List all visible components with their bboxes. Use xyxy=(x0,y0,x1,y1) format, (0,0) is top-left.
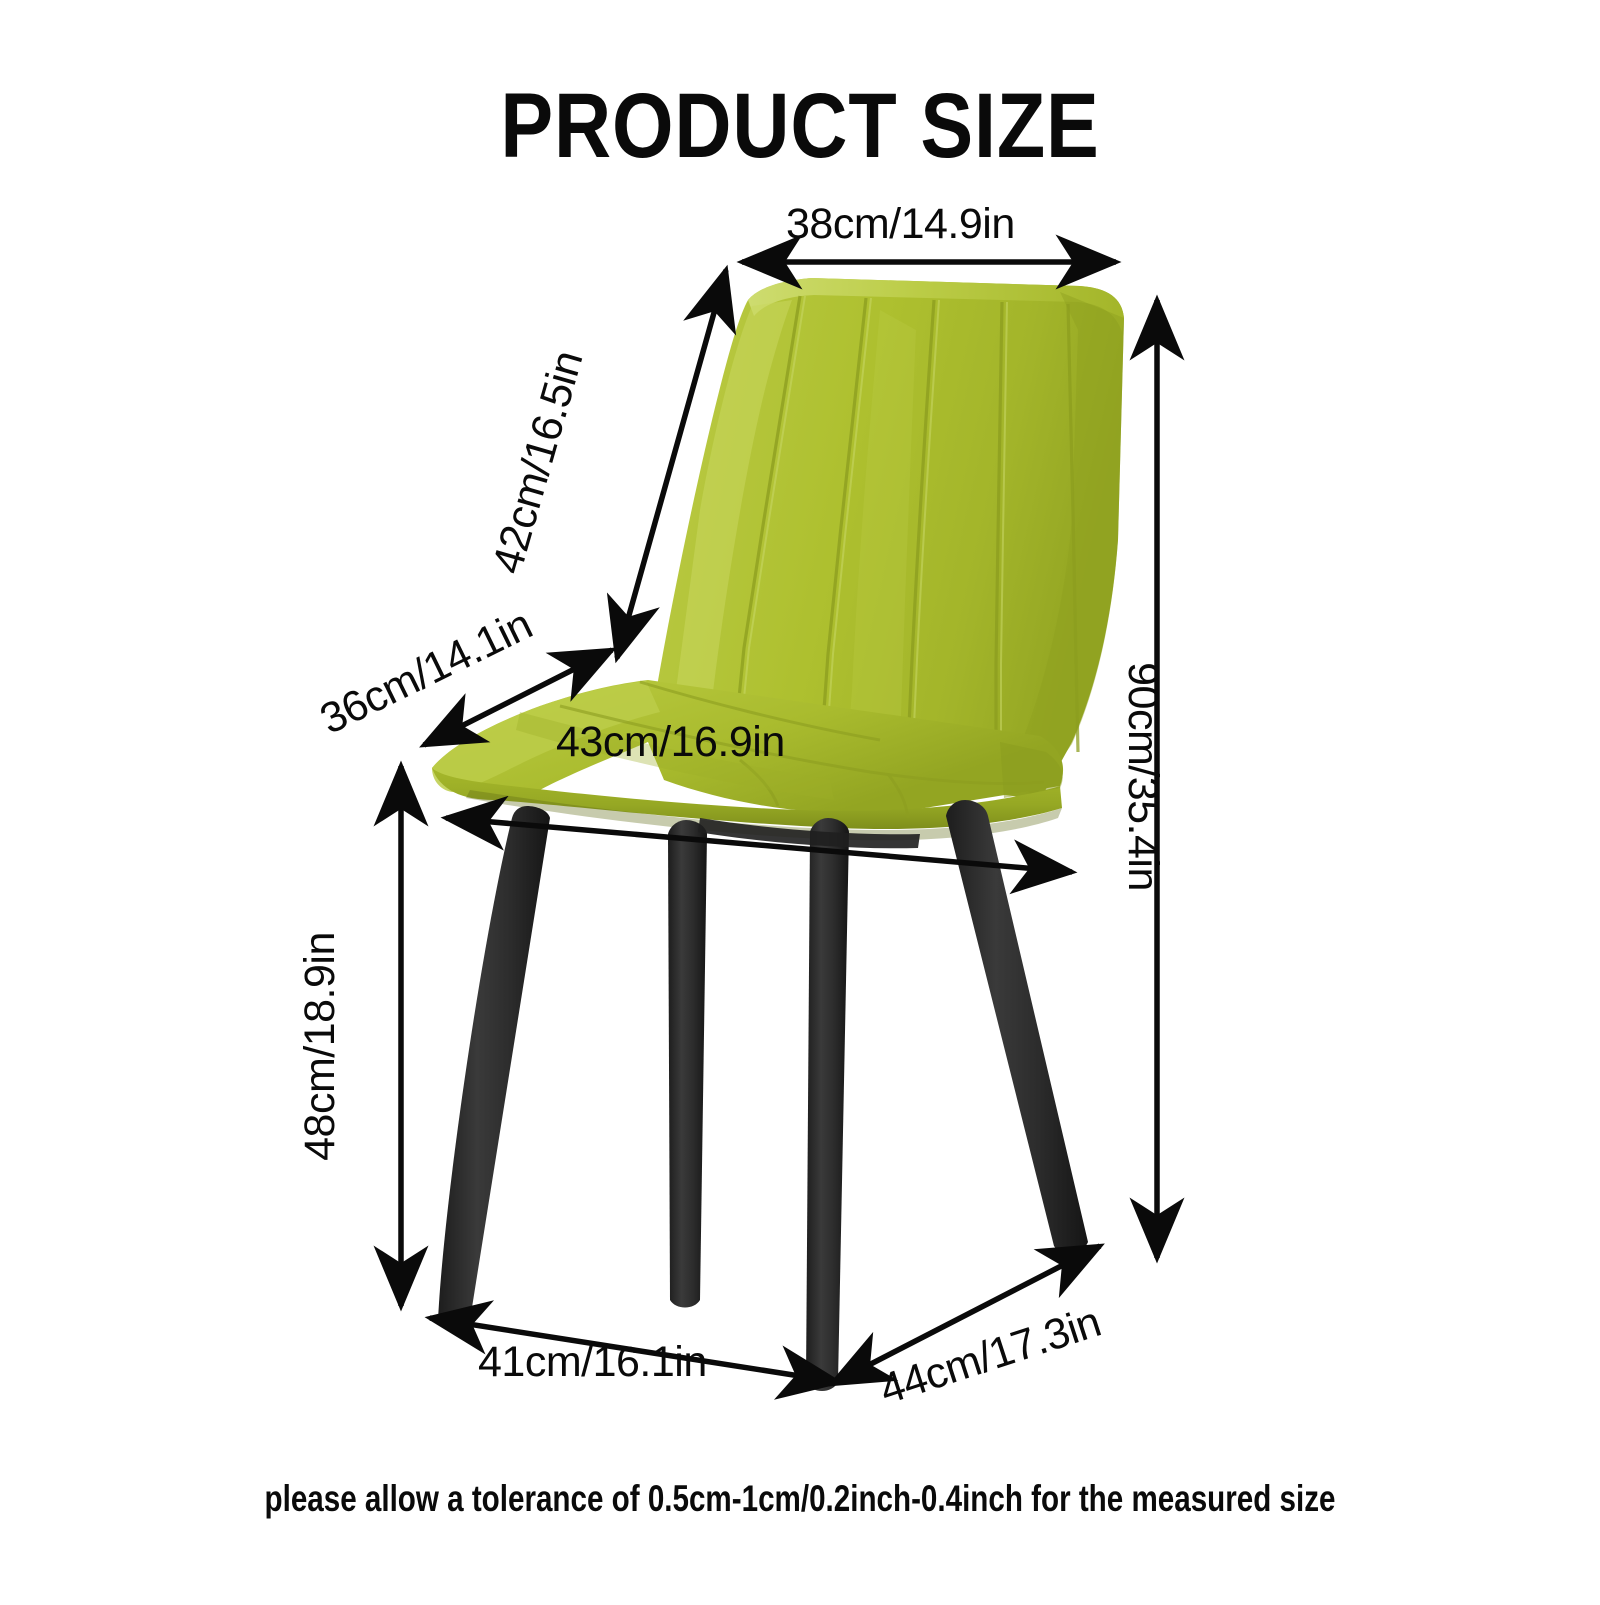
dimension-label-front-leg-span: 41cm/16.1in xyxy=(478,1338,707,1387)
dimension-label-overall-height: 90cm/35.4in xyxy=(1118,662,1167,891)
dimline-backrest-height xyxy=(617,270,726,658)
product-size-diagram: PRODUCT SIZE xyxy=(0,0,1600,1600)
dimline-seat-depth xyxy=(446,818,1072,872)
dimension-label-seat-height: 48cm/18.9in xyxy=(296,932,345,1161)
dimension-label-seat-depth: 43cm/16.9in xyxy=(556,718,785,767)
dimension-label-backrest-width: 38cm/14.9in xyxy=(786,200,1015,249)
